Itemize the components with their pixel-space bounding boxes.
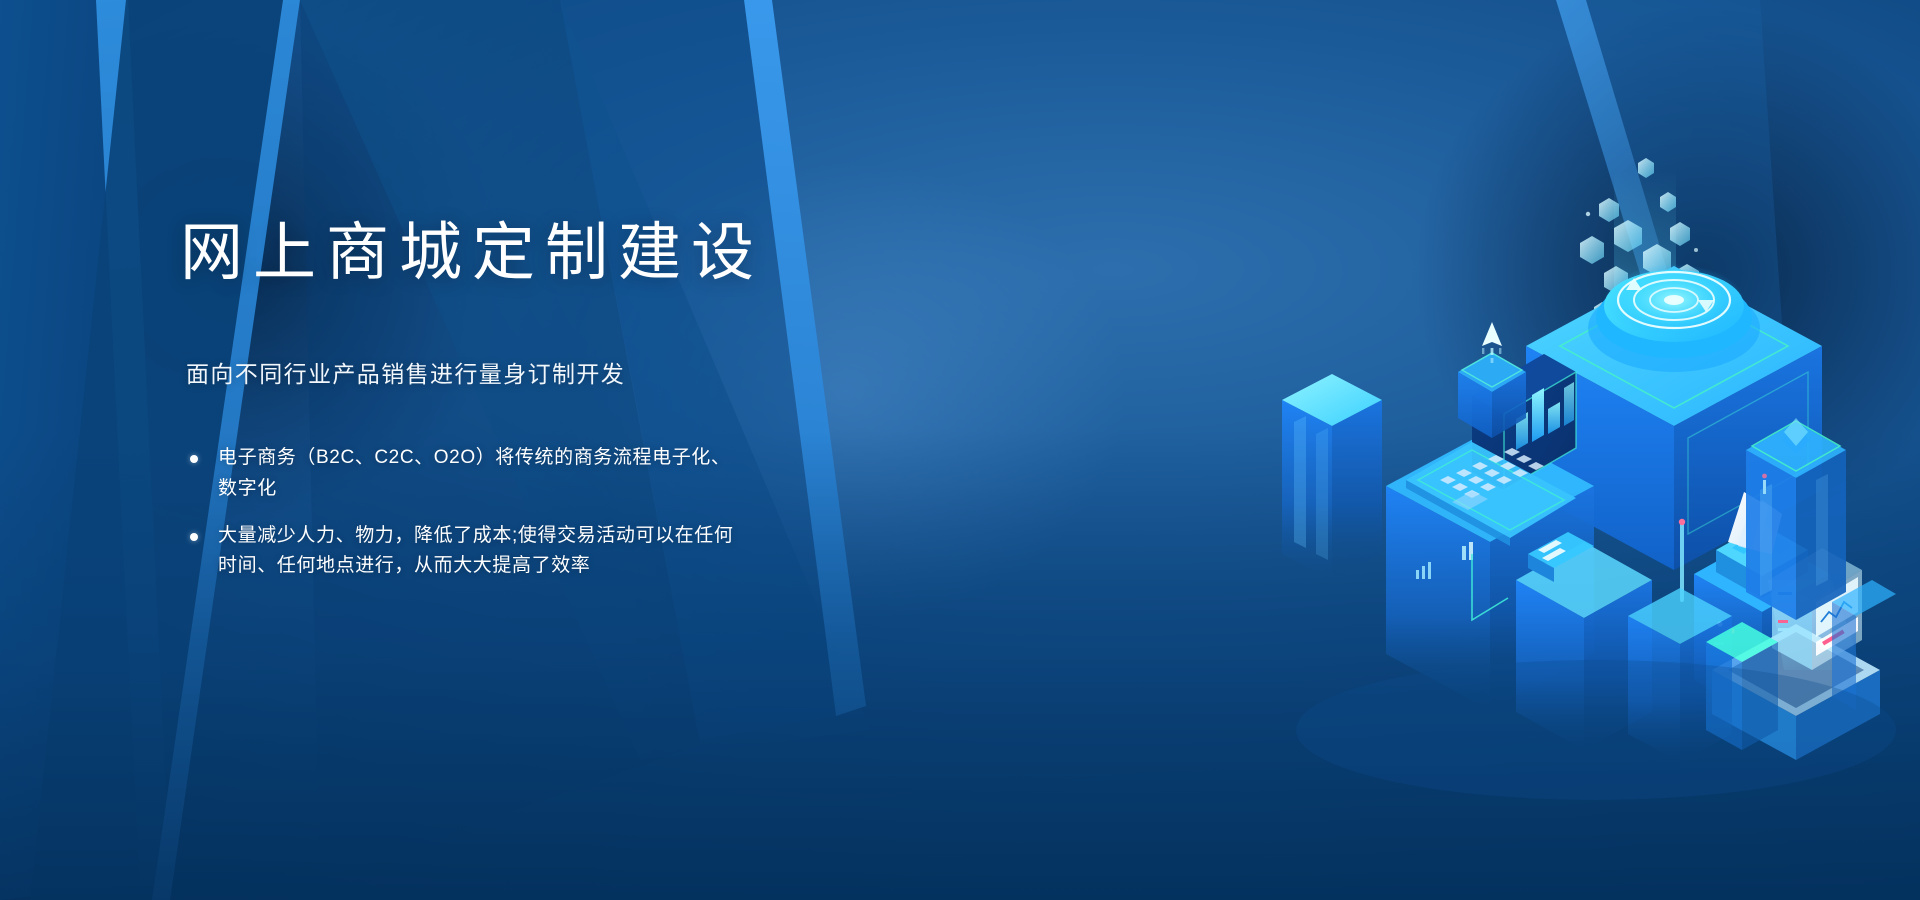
tower-block-left [1282, 374, 1382, 580]
page-title: 网上商城定制建设 [180, 222, 940, 285]
bullet-dot-icon [190, 455, 198, 463]
bullet-text: 大量减少人力、物力，降低了成本;使得交易活动可以在任何时间、任何地点进行，从而大… [218, 521, 746, 583]
banner-subtitle: 面向不同行业产品销售进行量身订制开发 [186, 355, 940, 389]
list-item: 大量减少人力、物力，降低了成本;使得交易活动可以在任何时间、任何地点进行，从而大… [186, 521, 746, 583]
tower-block-right-tall [1746, 418, 1846, 620]
hero-banner: 网上商城定制建设 面向不同行业产品销售进行量身订制开发 电子商务（B2C、C2C… [0, 0, 1920, 900]
rocket-tower [1458, 322, 1526, 438]
list-item: 电子商务（B2C、C2C、O2O）将传统的商务流程电子化、数字化 [186, 443, 746, 505]
isometric-illustration [1276, 150, 1896, 770]
feature-bullet-list: 电子商务（B2C、C2C、O2O）将传统的商务流程电子化、数字化 大量减少人力、… [186, 443, 940, 582]
banner-content: 网上商城定制建设 面向不同行业产品销售进行量身订制开发 电子商务（B2C、C2C… [180, 222, 940, 598]
bullet-text: 电子商务（B2C、C2C、O2O）将传统的商务流程电子化、数字化 [218, 443, 746, 505]
bullet-dot-icon [190, 533, 198, 541]
